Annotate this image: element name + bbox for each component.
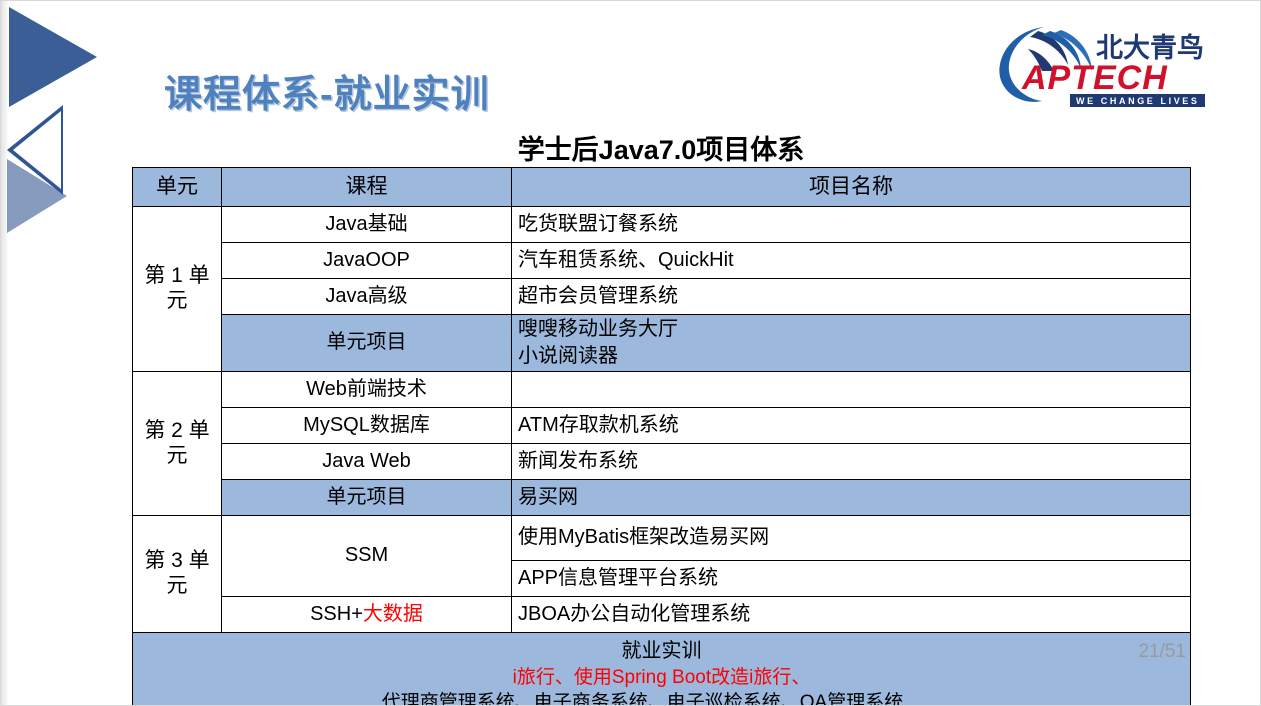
table-row-unit-project: 单元项目 易买网 <box>133 480 1191 516</box>
project-cell-empty <box>512 372 1191 408</box>
project-line-1: 嗖嗖移动业务大厅 <box>518 316 1184 343</box>
course-prefix: SSH+ <box>310 603 363 625</box>
page-number: 21/51 <box>1138 641 1186 663</box>
project-cell: JBOA办公自动化管理系统 <box>512 597 1191 633</box>
employment-training-cell: 就业实训 i旅行、使用Spring Boot改造i旅行、 代理商管理系统、电子商… <box>133 633 1191 706</box>
course-cell-ssm: SSM <box>222 516 512 597</box>
header-project: 项目名称 <box>512 168 1191 207</box>
unit-cell-2: 第 2 单元 <box>133 372 222 516</box>
project-cell: 吃货联盟订餐系统 <box>512 207 1191 243</box>
project-cell-unit-project: 嗖嗖移动业务大厅 小说阅读器 <box>512 315 1191 372</box>
project-cell: APP信息管理平台系统 <box>512 561 1191 597</box>
table-row: MySQL数据库 ATM存取款机系统 <box>133 408 1191 444</box>
project-cell: ATM存取款机系统 <box>512 408 1191 444</box>
table-row: SSH+大数据 JBOA办公自动化管理系统 <box>133 597 1191 633</box>
footer-line-3: 代理商管理系统、电子商务系统、电子巡检系统、OA管理系统…… <box>139 690 1184 706</box>
project-cell-unit-project: 易买网 <box>512 480 1191 516</box>
unit-cell-1: 第 1 单元 <box>133 207 222 372</box>
course-highlight: 大数据 <box>363 603 423 625</box>
project-cell: 汽车租赁系统、QuickHit <box>512 243 1191 279</box>
table-row: 第 2 单元 Web前端技术 <box>133 372 1191 408</box>
course-cell: Java高级 <box>222 279 512 315</box>
svg-text:APTECH: APTECH <box>1021 59 1168 97</box>
course-cell: Web前端技术 <box>222 372 512 408</box>
page-title: 课程体系-就业实训 <box>164 63 490 118</box>
decorative-triangle-solid-icon <box>9 7 97 107</box>
table-header-row: 单元 课程 项目名称 <box>133 168 1191 207</box>
course-cell-unit-project: 单元项目 <box>222 480 512 516</box>
aptech-logo: 北大青鸟 APTECH WE CHANGE LIVES <box>986 15 1211 110</box>
course-system-table: 单元 课程 项目名称 第 1 单元 Java基础 吃货联盟订餐系统 JavaOO… <box>132 167 1191 706</box>
table-footer-row: 就业实训 i旅行、使用Spring Boot改造i旅行、 代理商管理系统、电子商… <box>133 633 1191 706</box>
presentation-slide: 课程体系-就业实训 北大青鸟 APTECH WE CHANGE LIVES 学士… <box>0 0 1261 706</box>
course-cell: Java Web <box>222 444 512 480</box>
unit-cell-3: 第 3 单元 <box>133 516 222 633</box>
course-cell: JavaOOP <box>222 243 512 279</box>
table-caption: 学士后Java7.0项目体系 <box>131 128 1191 167</box>
table-row: Java Web 新闻发布系统 <box>133 444 1191 480</box>
project-cell: 使用MyBatis框架改造易买网 <box>512 516 1191 561</box>
table-row: Java高级 超市会员管理系统 <box>133 279 1191 315</box>
project-cell: 超市会员管理系统 <box>512 279 1191 315</box>
course-cell: Java基础 <box>222 207 512 243</box>
footer-line-2: i旅行、使用Spring Boot改造i旅行、 <box>139 665 1184 690</box>
svg-text:WE CHANGE LIVES: WE CHANGE LIVES <box>1076 96 1200 106</box>
course-cell-unit-project: 单元项目 <box>222 315 512 372</box>
table-row: JavaOOP 汽车租赁系统、QuickHit <box>133 243 1191 279</box>
header-course: 课程 <box>222 168 512 207</box>
course-cell-ssh: SSH+大数据 <box>222 597 512 633</box>
project-cell: 新闻发布系统 <box>512 444 1191 480</box>
decorative-triangle-outline-inner <box>13 111 61 189</box>
footer-line-1: 就业实训 <box>139 638 1184 665</box>
table-row-unit-project: 单元项目 嗖嗖移动业务大厅 小说阅读器 <box>133 315 1191 372</box>
table-row: 第 3 单元 SSM 使用MyBatis框架改造易买网 <box>133 516 1191 561</box>
course-cell: MySQL数据库 <box>222 408 512 444</box>
header-unit: 单元 <box>133 168 222 207</box>
table-row: 第 1 单元 Java基础 吃货联盟订餐系统 <box>133 207 1191 243</box>
project-line-2: 小说阅读器 <box>518 343 1184 370</box>
